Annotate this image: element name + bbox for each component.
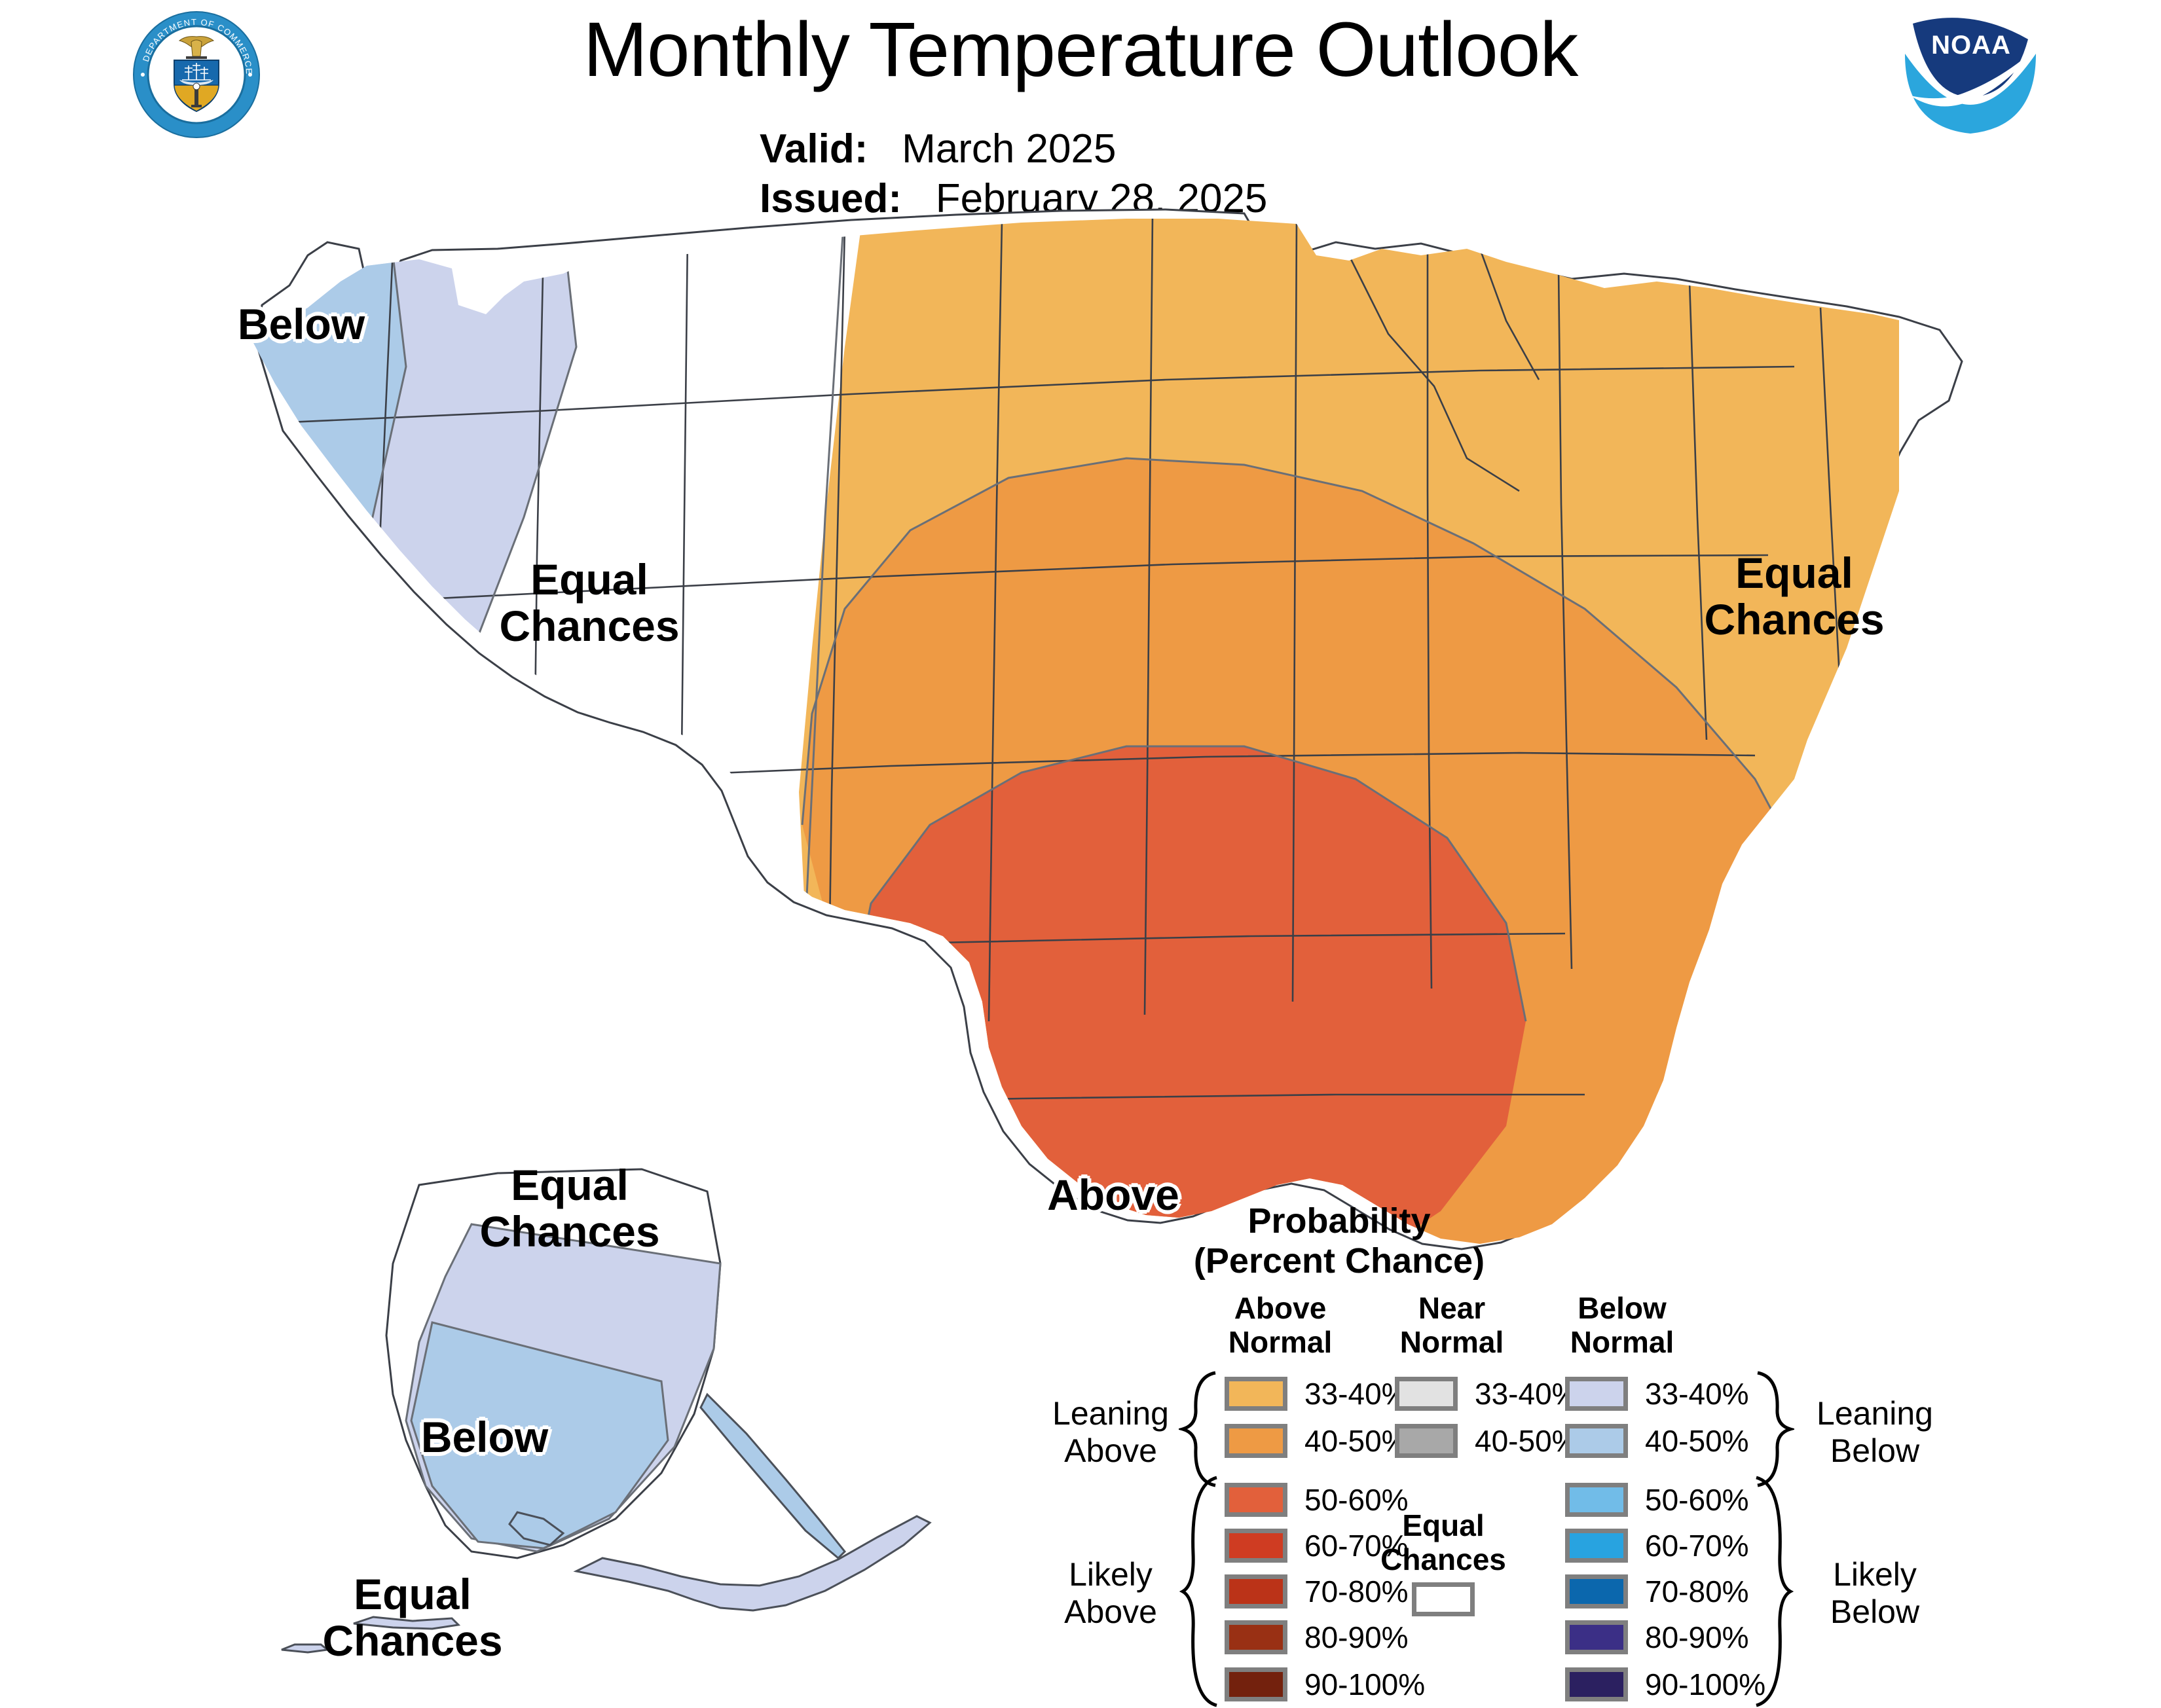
bracket-line2: Above [1064,1593,1157,1630]
legend-label-below-33-40: 33-40% [1645,1377,1749,1411]
legend-title: Probability (Percent Chance) [982,1201,1696,1281]
page-title: Monthly Temperature Outlook [0,5,2161,94]
legend-swatch-below-33-40 [1565,1377,1628,1411]
bracket-line1: Likely [1069,1556,1153,1593]
legend-col-head-below-normal: Below Normal [1547,1292,1697,1359]
bracket-line2: Below [1830,1432,1919,1469]
map-label-alaska-equal-chances-south: Equal Chances [275,1571,550,1663]
brace-leaning-above [1179,1370,1225,1488]
bracket-line1: Leaning [1052,1395,1169,1432]
map-label-text: Below [238,300,365,348]
brace-leaning-below [1748,1370,1794,1488]
legend-equal-chances-text: Equal Chances [1378,1509,1509,1576]
map-label-line2: Chances [499,602,679,650]
legend-label-below-90-100: 90-100% [1645,1667,1765,1701]
legend-swatch-above-40-50 [1225,1424,1287,1458]
col-head-line1: Above [1234,1291,1327,1325]
legend-label-above-70-80: 70-80% [1304,1574,1409,1608]
map-label-line1: Equal [530,555,648,604]
legend-swatch-below-40-50 [1565,1424,1628,1458]
bracket-label-likely-below: Likely Below [1800,1556,1950,1631]
noaa-logo-text: NOAA [1931,31,2011,60]
bracket-line1: Leaning [1817,1395,1933,1432]
map-label-alaska-equal-chances-north: Equal Chances [432,1162,707,1254]
map-label-line2: Chances [322,1616,502,1665]
legend-title-line1: Probability [1247,1201,1430,1241]
legend-swatch-above-50-60 [1225,1483,1287,1517]
legend-swatch-equal-chances [1412,1582,1475,1616]
col-head-line2: Normal [1400,1325,1504,1359]
legend-swatch-above-70-80 [1225,1574,1287,1608]
legend-label-above-40-50: 40-50% [1304,1424,1409,1458]
legend-swatch-above-33-40 [1225,1377,1287,1411]
probability-legend: Probability (Percent Chance) Above Norma… [982,1201,2004,1653]
doc-seal-svg: DEPARTMENT OF COMMERCE UNITED STATES OF … [128,9,265,140]
legend-label-below-40-50: 40-50% [1645,1424,1749,1458]
bracket-label-leaning-above: Leaning Above [1039,1395,1183,1470]
ec-line1: Equal [1402,1508,1484,1542]
brace-likely-above [1179,1475,1225,1708]
map-label-line2: Chances [479,1207,659,1256]
legend-swatch-below-50-60 [1565,1483,1628,1517]
legend-label-below-70-80: 70-80% [1645,1574,1749,1608]
map-label-line1: Equal [1735,549,1853,597]
col-head-line2: Normal [1228,1325,1332,1359]
col-head-line2: Normal [1570,1325,1674,1359]
legend-swatch-below-70-80 [1565,1574,1628,1608]
legend-title-line2: (Percent Chance) [1194,1241,1485,1281]
legend-label-below-60-70: 60-70% [1645,1529,1749,1563]
map-label-alaska-below: Below [380,1414,589,1461]
noaa-logo-svg: NOAA [1902,9,2040,140]
legend-swatch-near-33-40 [1395,1377,1458,1411]
legend-swatch-below-80-90 [1565,1620,1628,1654]
bracket-line2: Above [1064,1432,1157,1469]
noaa-logo: NOAA [1902,9,2040,140]
bracket-label-leaning-below: Leaning Below [1800,1395,1950,1470]
map-label-equal-chances-west: Equal Chances [452,556,727,649]
map-label-text: Below [421,1413,548,1461]
map-label-line1: Equal [511,1161,629,1209]
map-label-line1: Equal [354,1570,471,1618]
legend-swatch-above-80-90 [1225,1620,1287,1654]
legend-label-above-90-100: 90-100% [1304,1667,1425,1701]
department-of-commerce-seal: DEPARTMENT OF COMMERCE UNITED STATES OF … [128,9,265,140]
legend-label-near-40-50: 40-50% [1475,1424,1579,1458]
legend-swatch-above-90-100 [1225,1667,1287,1701]
legend-label-below-80-90: 80-90% [1645,1620,1749,1654]
legend-label-below-50-60: 50-60% [1645,1483,1749,1517]
legend-swatch-below-60-70 [1565,1529,1628,1563]
col-head-line1: Near [1418,1291,1485,1325]
legend-swatch-above-60-70 [1225,1529,1287,1563]
brace-likely-below [1748,1475,1794,1708]
legend-swatch-below-90-100 [1565,1667,1628,1701]
legend-label-near-33-40: 33-40% [1475,1377,1579,1411]
bracket-line1: Likely [1833,1556,1917,1593]
bracket-line2: Below [1830,1593,1919,1630]
legend-col-head-near-normal: Near Normal [1376,1292,1527,1359]
map-label-line2: Chances [1704,595,1884,644]
legend-label-above-33-40: 33-40% [1304,1377,1409,1411]
ec-line2: Chances [1380,1542,1506,1576]
legend-swatch-near-40-50 [1395,1424,1458,1458]
col-head-line1: Below [1578,1291,1666,1325]
bracket-label-likely-above: Likely Above [1039,1556,1183,1631]
legend-col-head-above-normal: Above Normal [1205,1292,1356,1359]
map-label-equal-chances-east: Equal Chances [1657,550,1932,642]
legend-label-above-80-90: 80-90% [1304,1620,1409,1654]
map-label-below-west: Below [196,301,406,348]
